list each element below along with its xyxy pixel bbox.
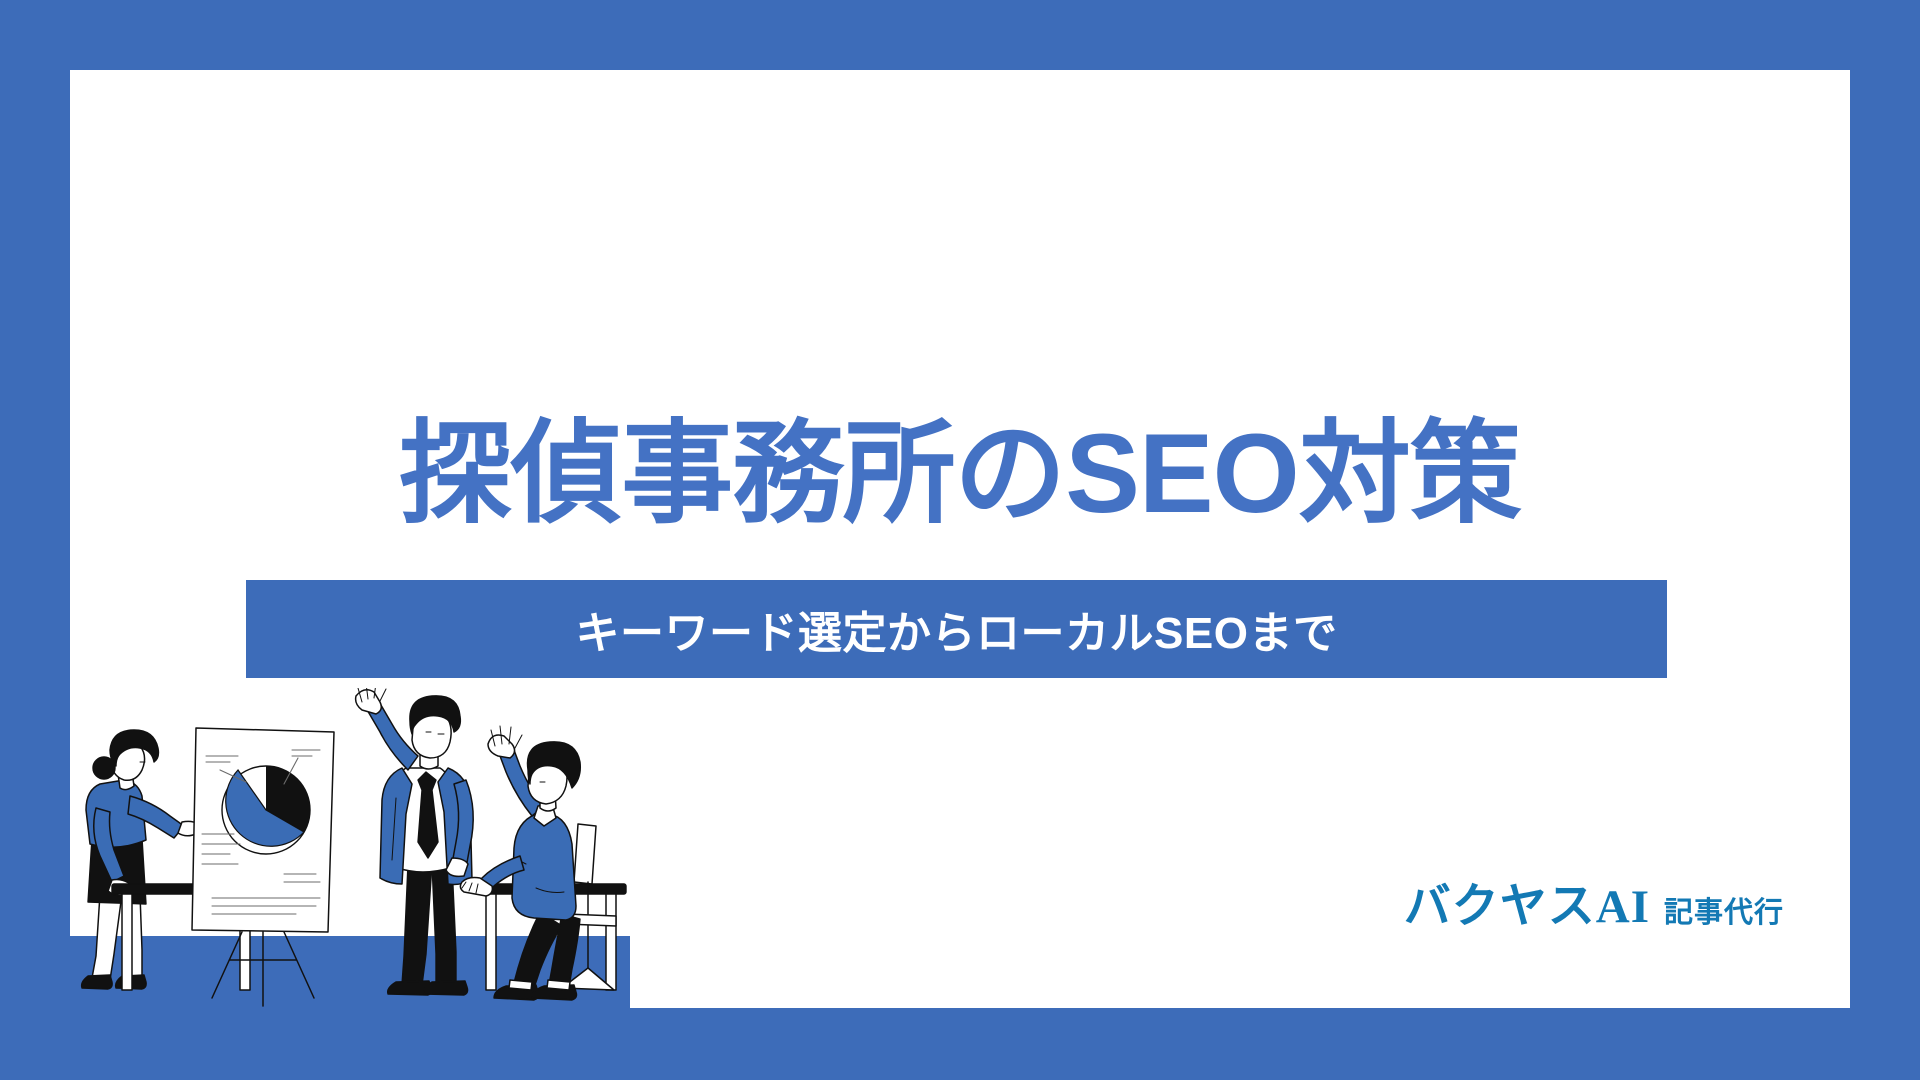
prop-poster-board (192, 728, 334, 932)
prop-easel (212, 932, 314, 1006)
figure-man-presenting (356, 688, 474, 995)
brand-logo-tagline: 記事代行 (1664, 889, 1784, 931)
brand-logo-name: バクヤスAI (1404, 867, 1650, 936)
brand-logo: バクヤスAI 記事代行 (1404, 867, 1784, 936)
business-presentation-illustration: .ln{fill:none;stroke:#111;stroke-width:1… (70, 688, 630, 1008)
figure-man-seated (460, 726, 616, 1000)
slide-root: 探偵事務所のSEO対策 キーワード選定からローカルSEOまで バクヤスAI 記事… (0, 0, 1920, 1080)
subtitle-band: キーワード選定からローカルSEOまで (246, 580, 1667, 678)
page-title: 探偵事務所のSEO対策 (70, 415, 1850, 533)
slide-white-card: 探偵事務所のSEO対策 キーワード選定からローカルSEOまで バクヤスAI 記事… (70, 70, 1850, 1008)
illustration-svg: .ln{fill:none;stroke:#111;stroke-width:1… (70, 688, 630, 1008)
poster-pie-chart (222, 766, 310, 854)
subtitle-text: キーワード選定からローカルSEOまで (576, 597, 1338, 661)
